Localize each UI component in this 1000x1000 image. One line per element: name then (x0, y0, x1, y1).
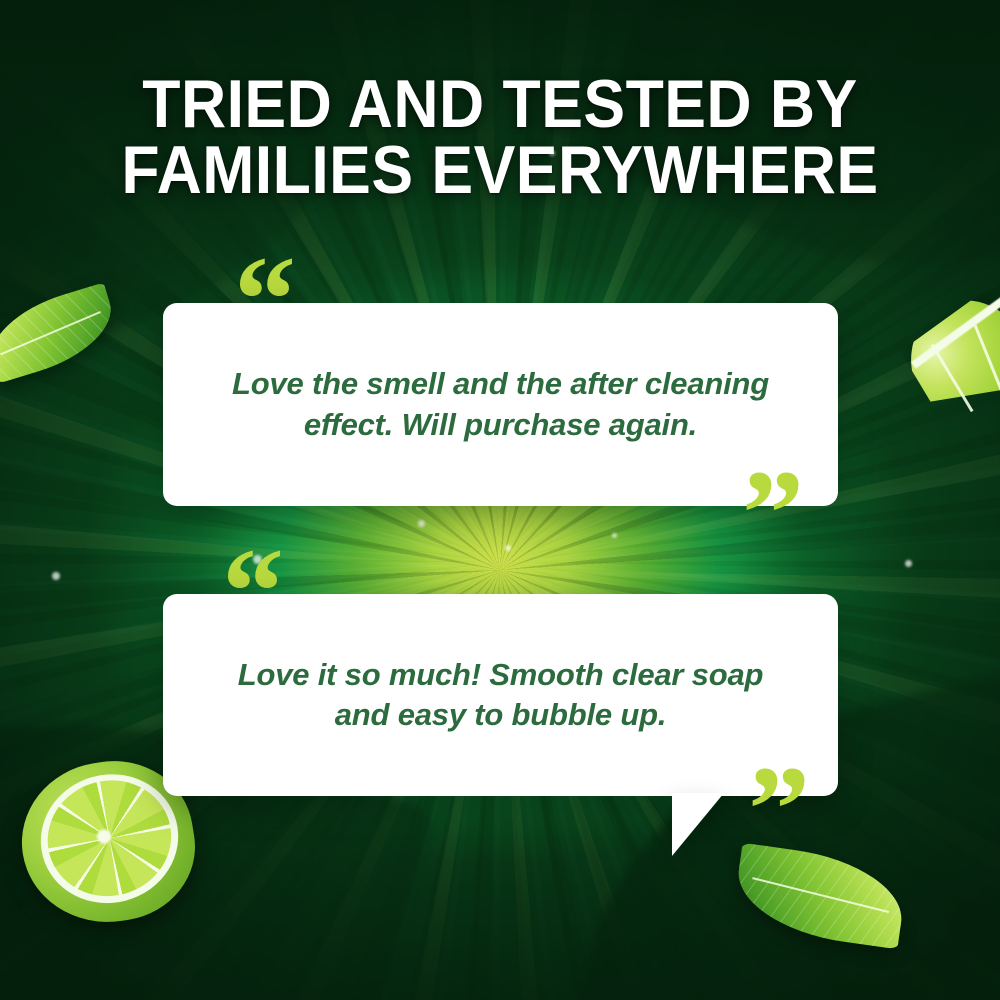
headline-line-2: FAMILIES EVERYWHERE (77, 138, 923, 204)
testimonial-card-2: Love it so much! Smooth clear soap and e… (163, 594, 838, 796)
page-title: TRIED AND TESTED BY FAMILIES EVERYWHERE (40, 72, 960, 204)
light-speck (52, 572, 60, 580)
close-quote-icon-2: ” (748, 748, 810, 872)
light-speck (612, 533, 617, 538)
testimonial-text-1: Love the smell and the after cleaning ef… (163, 364, 838, 445)
testimonial-banner: TRIED AND TESTED BY FAMILIES EVERYWHERE … (0, 0, 1000, 1000)
light-speck (418, 520, 425, 527)
testimonial-card-1: Love the smell and the after cleaning ef… (163, 303, 838, 506)
close-quote-icon-1: ” (742, 452, 804, 576)
speech-bubble-tail (672, 793, 724, 856)
light-speck (505, 545, 511, 551)
light-speck (905, 560, 912, 567)
headline-line-1: TRIED AND TESTED BY (77, 72, 923, 138)
testimonial-text-2: Love it so much! Smooth clear soap and e… (163, 655, 838, 736)
